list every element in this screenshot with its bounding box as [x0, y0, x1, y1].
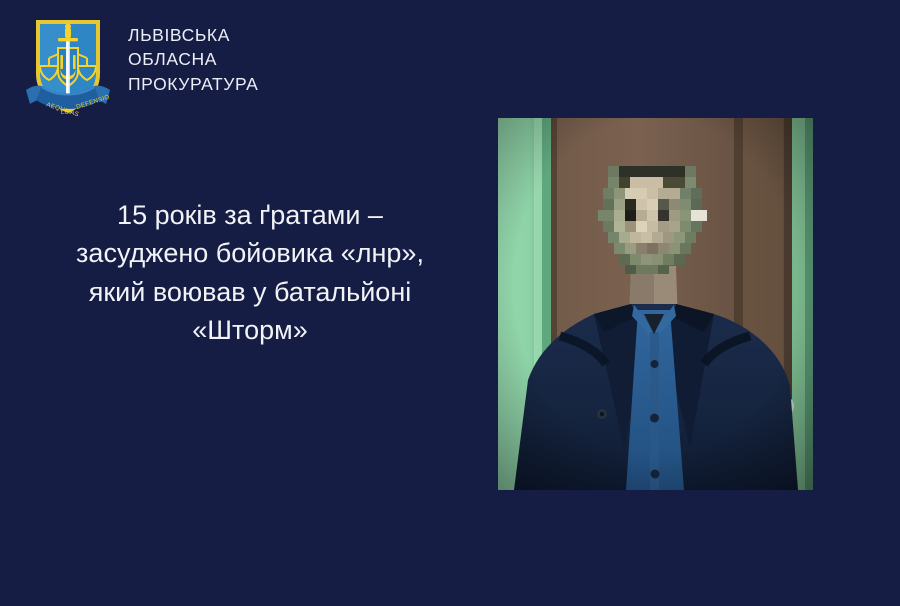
brand-lockup: AEQUITAS LEX DEFENSIO ЛЬВІВСЬКА ОБЛАСНА …: [22, 14, 258, 126]
prosecutor-office-emblem-icon: AEQUITAS LEX DEFENSIO: [22, 14, 114, 126]
headline-line-1: 15 років за ґратами –: [30, 196, 470, 234]
subject-photo: [498, 118, 813, 490]
svg-text:LEX: LEX: [61, 109, 74, 116]
headline-line-3: який воював у батальйоні: [30, 273, 470, 311]
headline-line-2: засуджено бойовика «лнр»,: [30, 234, 470, 272]
headline-line-4: «Шторм»: [30, 311, 470, 349]
headline: 15 років за ґратами – засуджено бойовика…: [30, 196, 470, 349]
brand-line-2: ОБЛАСНА: [128, 48, 258, 71]
brand-line-3: ПРОКУРАТУРА: [128, 73, 258, 96]
brand-line-1: ЛЬВІВСЬКА: [128, 24, 258, 47]
brand-name: ЛЬВІВСЬКА ОБЛАСНА ПРОКУРАТУРА: [128, 24, 258, 96]
